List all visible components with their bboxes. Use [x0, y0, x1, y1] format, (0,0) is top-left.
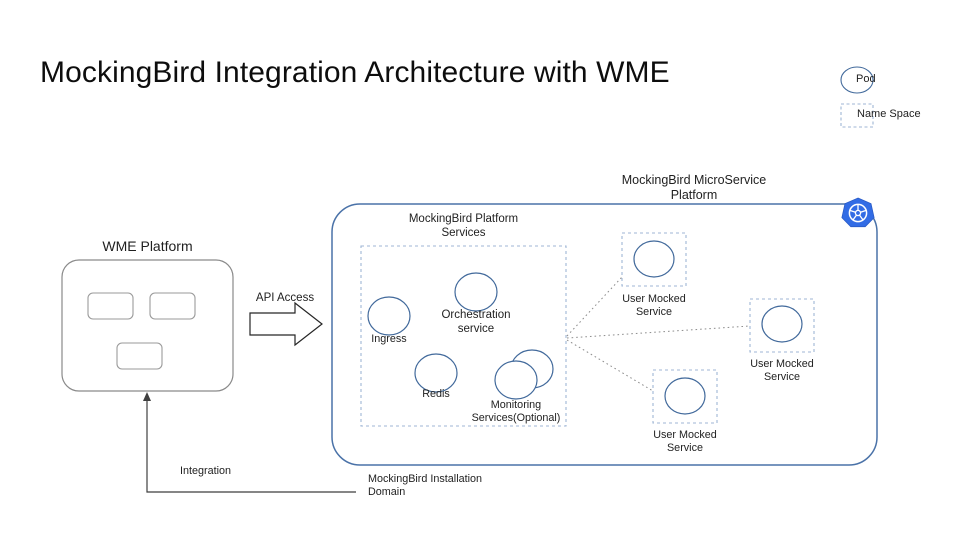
wme-component-1 — [88, 293, 133, 319]
pod-ingress-circle-icon — [368, 297, 410, 335]
user-mocked-service-pod-circle-icon-2 — [762, 306, 802, 342]
kubernetes-logo-icon — [842, 198, 874, 227]
platform-services-title: MockingBird Platform Services — [361, 212, 566, 240]
legend-namespace-label: Name Space — [857, 108, 921, 120]
user-mocked-service-pod-circle-icon-1 — [634, 241, 674, 277]
integration-connector-arrowhead — [143, 392, 151, 401]
microservice-platform-title: MockingBird MicroService Platform — [584, 173, 804, 204]
pod-redis-circle-icon — [415, 354, 457, 392]
wme-component-2 — [150, 293, 195, 319]
integration-label: Integration — [180, 465, 250, 478]
wme-platform-box — [62, 260, 233, 391]
diagram-canvas: MockingBird Integration Architecture wit… — [0, 0, 960, 540]
diagram-vector-layer — [0, 0, 960, 540]
wme-platform-title: WME Platform — [62, 238, 233, 255]
api-access-block-arrow-right-icon — [250, 303, 322, 345]
pod-label-ingress: Ingress — [349, 333, 429, 346]
integration-connector-line — [147, 400, 356, 492]
user-mocked-service-label-2: User Mocked Service — [732, 358, 832, 384]
pod-orchestration-service-circle-icon — [455, 273, 497, 311]
user-mocked-service-label-3: User Mocked Service — [635, 429, 735, 455]
legend-pod-label: Pod — [856, 73, 876, 85]
pod-monitoring-front-circle-icon — [495, 361, 537, 399]
user-mocked-service-label-1: User Mocked Service — [604, 293, 704, 319]
api-access-label: API Access — [237, 291, 333, 305]
user-mocked-service-pod-circle-icon-3 — [665, 378, 705, 414]
pod-label-orchestration-service: Orchestration service — [421, 308, 531, 336]
pod-label-monitoring-services: Monitoring Services(Optional) — [462, 399, 570, 425]
wme-component-3 — [117, 343, 162, 369]
installation-domain-label: MockingBird Installation Domain — [368, 473, 558, 499]
